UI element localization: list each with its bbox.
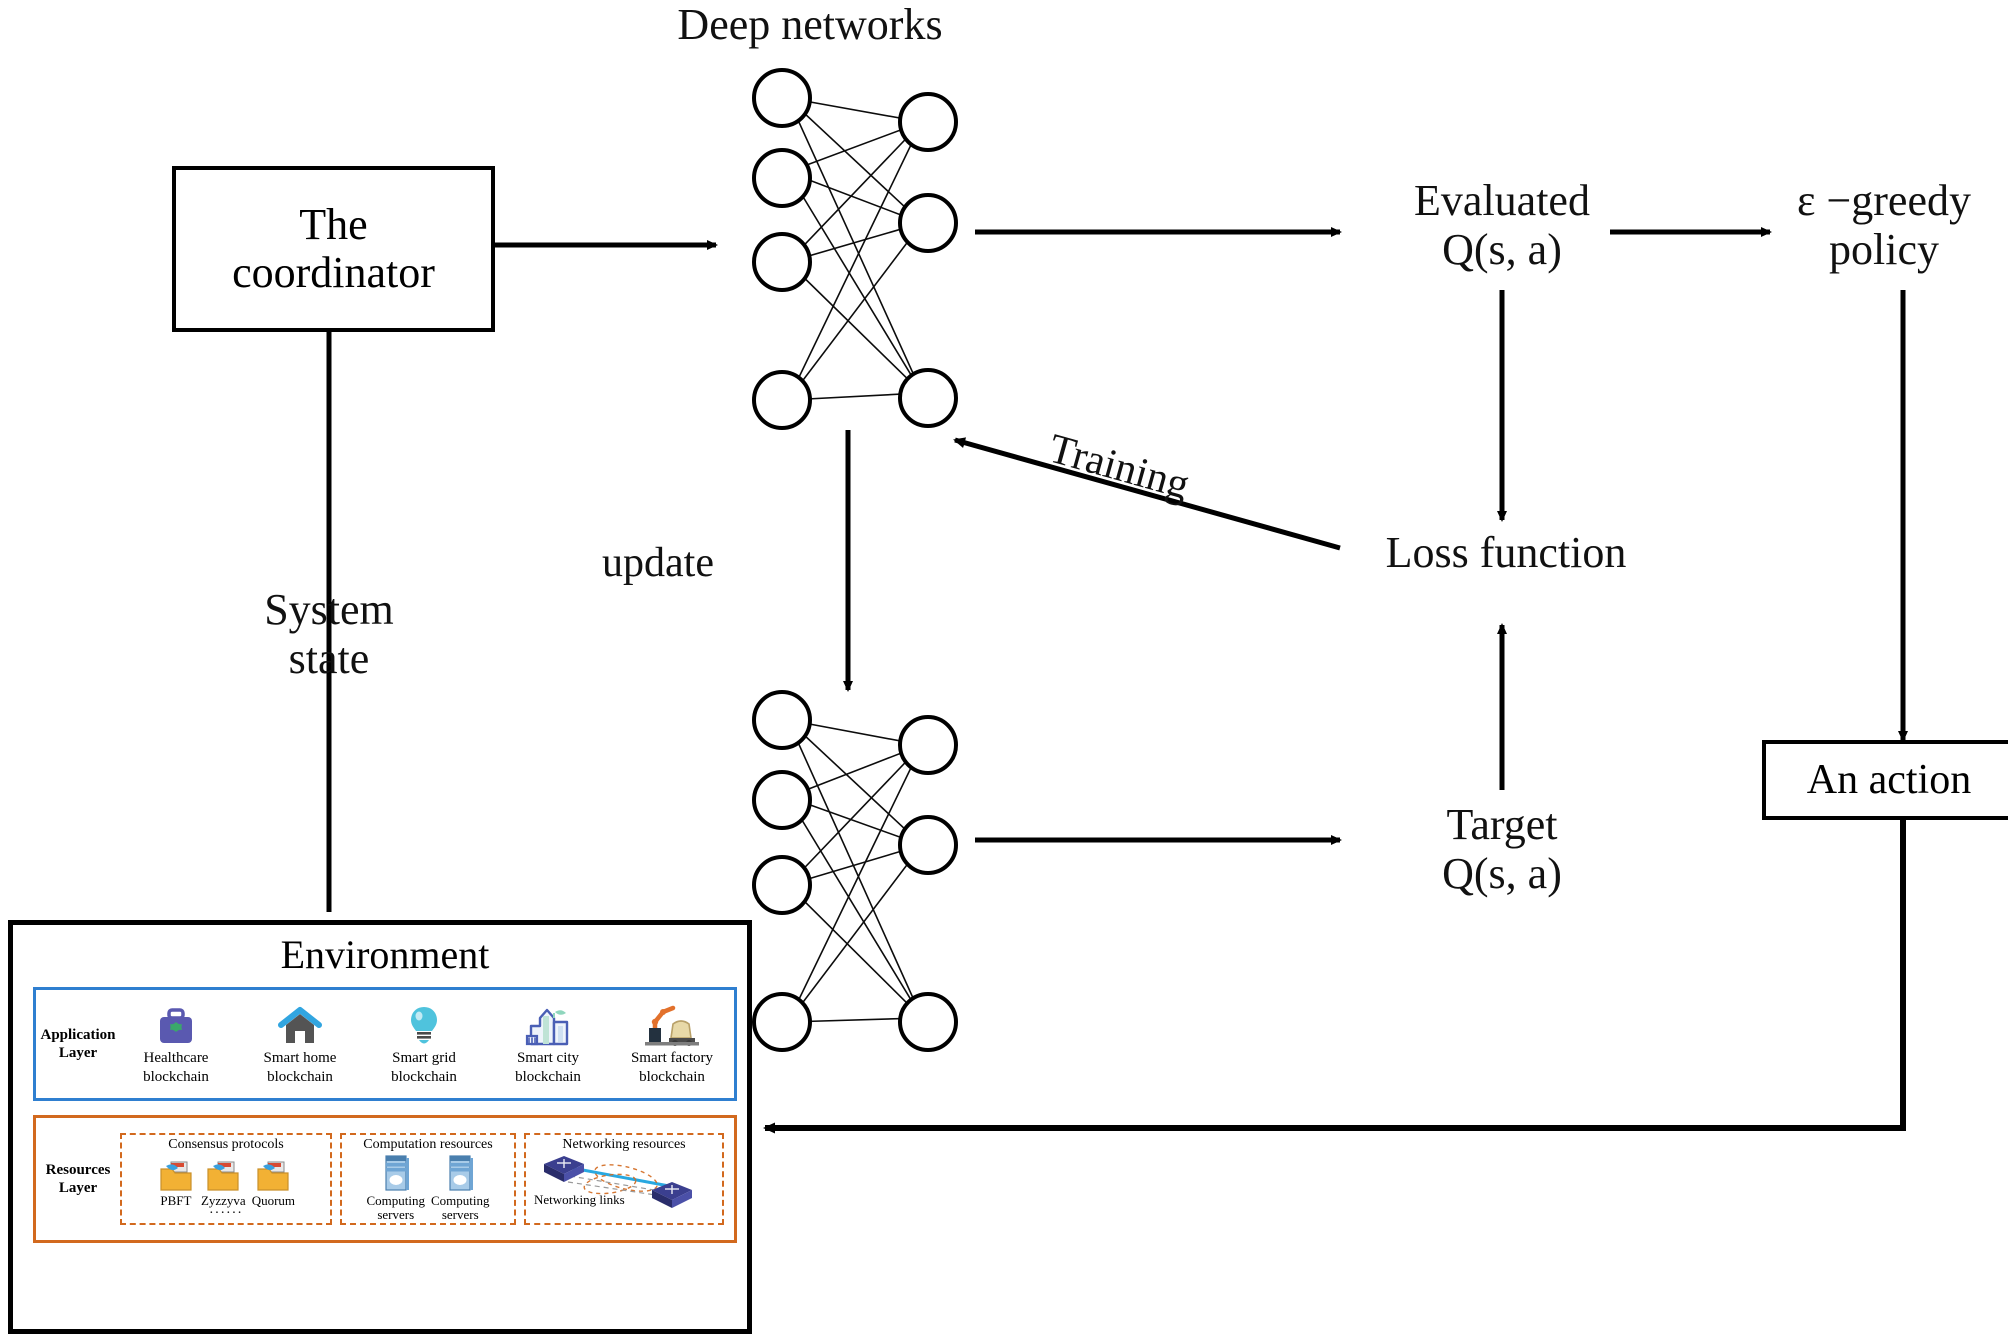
- evaluated-line-1: Evaluated: [1352, 176, 1652, 225]
- res-group-computation[interactable]: Computation resources Computing servers: [340, 1133, 516, 1226]
- app-caption: Smart grid: [392, 1050, 456, 1067]
- folder-icon: [254, 1160, 292, 1194]
- coordinator-box[interactable]: The coordinator: [172, 166, 495, 332]
- res-group-consensus[interactable]: Consensus protocols PBFT: [120, 1133, 332, 1226]
- application-layer[interactable]: Application Layer Healthcare blockchain: [33, 987, 737, 1101]
- res-item-computing-server-1[interactable]: Computing servers: [366, 1154, 425, 1221]
- training-label: Training: [987, 410, 1250, 525]
- medical-bag-icon: [156, 1002, 196, 1048]
- folder-icon: [157, 1160, 195, 1194]
- loss-function-label: Loss function: [1320, 528, 1692, 577]
- app-caption: blockchain: [515, 1069, 581, 1086]
- res-layer-line-2: Layer: [36, 1179, 120, 1197]
- city-buildings-icon: [523, 1002, 573, 1048]
- app-layer-line-2: Layer: [36, 1044, 120, 1062]
- target-q-label: Target Q(s, a): [1352, 800, 1652, 899]
- app-caption: Smart factory: [631, 1050, 713, 1067]
- target-line-1: Target: [1352, 800, 1652, 849]
- res-item-caption: Networking links: [534, 1192, 625, 1208]
- res-group-title: Computation resources: [363, 1137, 492, 1152]
- greedy-line-2: policy: [1760, 225, 2008, 274]
- greedy-policy-label: ε −greedy policy: [1760, 176, 2008, 275]
- house-icon: [278, 1002, 322, 1048]
- server-icon: [445, 1154, 475, 1194]
- app-item-smart-city[interactable]: Smart city blockchain: [492, 1002, 604, 1086]
- folder-icon: [204, 1160, 242, 1194]
- coordinator-line-1: The: [232, 201, 435, 249]
- deep-networks-title: Deep networks: [600, 0, 1020, 49]
- evaluated-q-label: Evaluated Q(s, a): [1352, 176, 1652, 275]
- app-caption: Smart home: [264, 1050, 337, 1067]
- greedy-line-1: ε −greedy: [1760, 176, 2008, 225]
- lightbulb-icon: [408, 1002, 440, 1048]
- app-caption: Smart city: [517, 1050, 579, 1067]
- app-layer-line-1: Application: [36, 1026, 120, 1044]
- res-item-caption: Computing: [431, 1194, 490, 1208]
- robot-arm-icon: [643, 1002, 701, 1048]
- app-item-healthcare[interactable]: Healthcare blockchain: [120, 1002, 232, 1086]
- app-caption: Healthcare: [144, 1050, 209, 1067]
- app-caption: blockchain: [267, 1069, 333, 1086]
- coordinator-line-2: coordinator: [232, 249, 435, 297]
- system-state-line-2: state: [179, 634, 479, 683]
- res-item-caption: servers: [442, 1208, 479, 1222]
- app-item-smart-grid[interactable]: Smart grid blockchain: [368, 1002, 480, 1086]
- app-item-smart-factory[interactable]: Smart factory blockchain: [616, 1002, 728, 1086]
- an-action-label: An action: [1807, 757, 1971, 803]
- an-action-box[interactable]: An action: [1762, 740, 2008, 820]
- app-caption: blockchain: [639, 1069, 705, 1086]
- res-group-title: Consensus protocols: [168, 1137, 284, 1152]
- arrow-action-to-environment: [765, 810, 1903, 1128]
- deep-network-bottom: [754, 692, 956, 1050]
- resources-layer-label: Resources Layer: [36, 1161, 120, 1197]
- system-state-label: System state: [179, 585, 479, 684]
- deep-network-top: [754, 70, 956, 428]
- res-item-caption: PBFT: [160, 1194, 191, 1208]
- environment-title: Environment: [13, 931, 757, 978]
- resources-layer[interactable]: Resources Layer Consensus protocols PBFT: [33, 1115, 737, 1243]
- consensus-ellipsis: ······: [209, 1207, 243, 1221]
- res-item-caption: Computing: [366, 1194, 425, 1208]
- res-item-quorum[interactable]: Quorum: [252, 1160, 295, 1208]
- res-group-networking[interactable]: Networking resources: [524, 1133, 724, 1226]
- update-label: update: [548, 540, 768, 587]
- res-item-zyzzyva[interactable]: Zyzzyva: [201, 1160, 246, 1208]
- res-item-pbft[interactable]: PBFT: [157, 1160, 195, 1208]
- res-item-computing-server-2[interactable]: Computing servers: [431, 1154, 490, 1221]
- app-caption: blockchain: [143, 1069, 209, 1086]
- evaluated-line-2: Q(s, a): [1352, 225, 1652, 274]
- target-line-2: Q(s, a): [1352, 849, 1652, 898]
- application-layer-label: Application Layer: [36, 1026, 120, 1062]
- res-item-caption: Quorum: [252, 1194, 295, 1208]
- res-item-caption: servers: [377, 1208, 414, 1222]
- server-icon: [381, 1154, 411, 1194]
- system-state-line-1: System: [179, 585, 479, 634]
- res-layer-line-1: Resources: [36, 1161, 120, 1179]
- res-item-caption: Zyzzyva: [201, 1194, 246, 1208]
- app-item-smart-home[interactable]: Smart home blockchain: [244, 1002, 356, 1086]
- app-caption: blockchain: [391, 1069, 457, 1086]
- environment-box[interactable]: Environment Application Layer Healthcare…: [8, 920, 752, 1334]
